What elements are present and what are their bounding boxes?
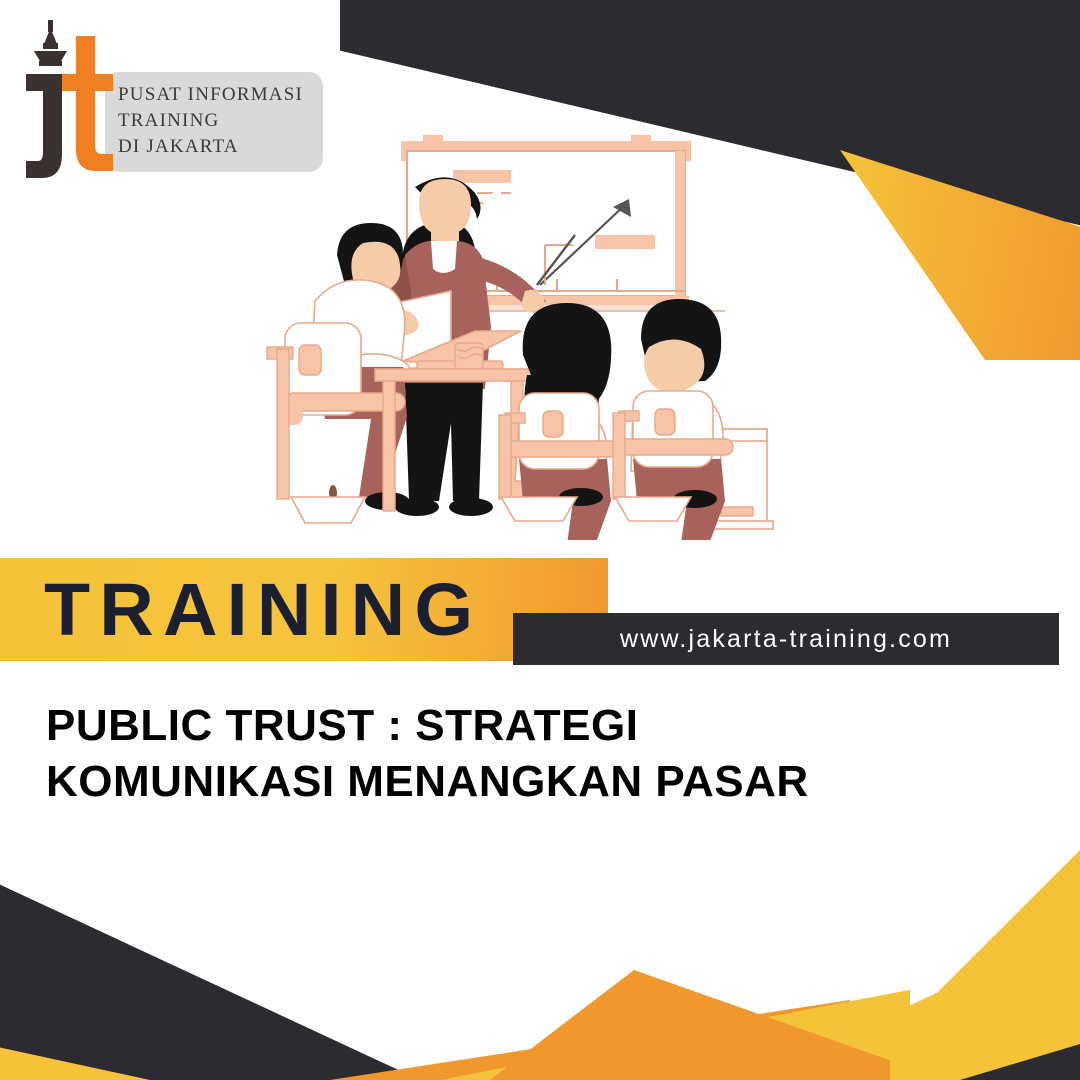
bottom-orange-band [330,1000,850,1080]
bottom-right-yellow-wedge [440,970,910,1080]
training-poster: PUSAT INFORMASI TRAINING DI JAKARTA .ln{… [0,0,1080,1080]
website-url: www.jakarta-training.com [620,625,952,654]
training-classroom-illustration: .ln{stroke:#E8A88C;stroke-width:1.6;fill… [255,125,815,540]
bottom-right-dark-corner [960,1044,1080,1080]
bottom-right-yellow-triangle [660,850,1080,1080]
website-url-bar[interactable]: www.jakarta-training.com [513,613,1059,665]
training-label: TRAINING [44,573,482,647]
jt-monogram-icon [10,18,120,198]
monas-monument-icon [34,20,67,66]
bottom-right-orange-triangle [490,970,890,1080]
course-title: PUBLIC TRUST : STRATEGI KOMUNIKASI MENAN… [46,698,1026,810]
bottom-left-yellow-wedge [0,1036,150,1080]
top-right-orange-triangle [840,150,1080,360]
bottom-left-dark-triangle [0,880,420,1080]
